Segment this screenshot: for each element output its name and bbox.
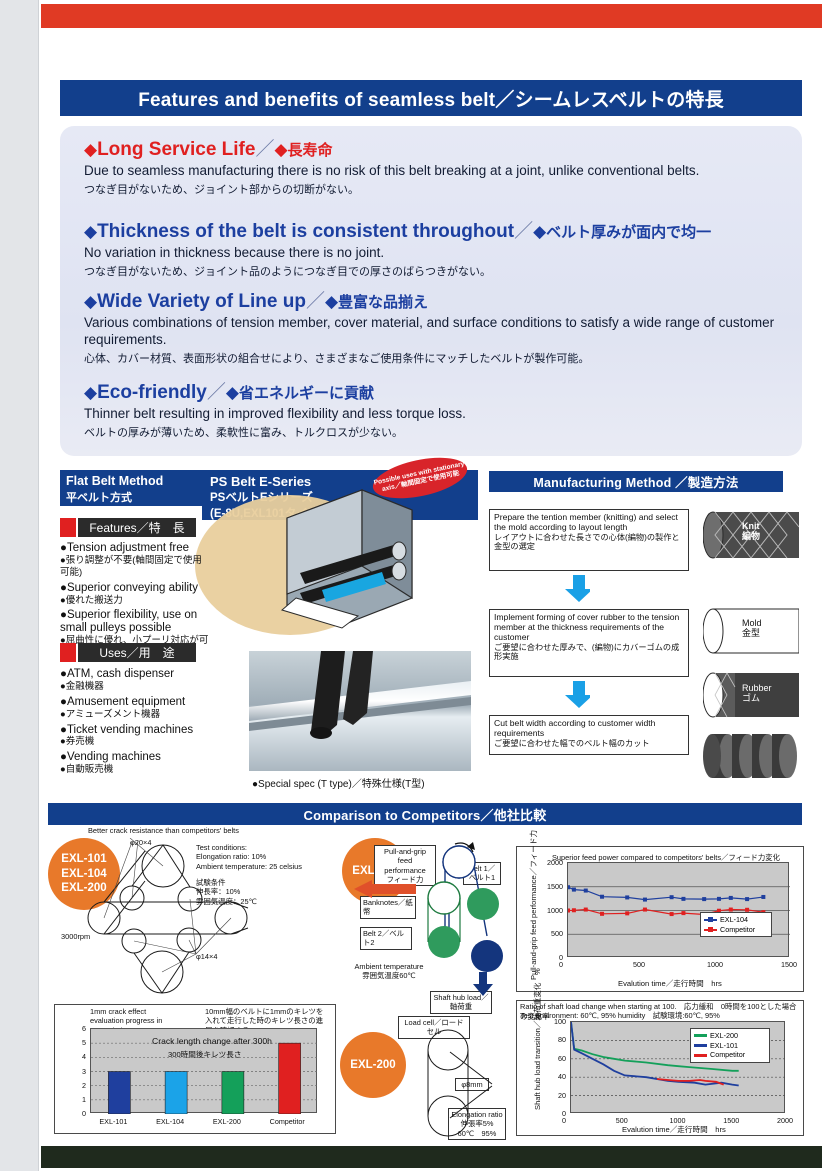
crack-chart-title: Crack length change after 300h (152, 1036, 272, 1047)
data-point (625, 911, 629, 915)
features-subheader: Features／特 長 (78, 518, 196, 537)
photo-caption: ●Special spec (T type)／特殊仕様(T型) (252, 775, 425, 790)
axis-tick-label: 0 (562, 1116, 566, 1125)
knit-label: Knit 編物 (742, 521, 760, 542)
axis-tick-label: Competitor (270, 1117, 305, 1126)
pulley-layout-diagram (70, 838, 290, 1000)
data-point (600, 912, 604, 916)
feed-chart-xlabel: Evalution time／走行時間 hrs (618, 978, 722, 989)
feature-item: ◆Long Service Life／◆長寿命 Due to seamless … (84, 140, 784, 197)
list-item-jp: ●優れた搬送力 (60, 595, 210, 607)
data-point (625, 895, 629, 899)
feed-mechanism-diagram (395, 840, 511, 1000)
mfg-step-box: Cut belt width according to customer wid… (489, 715, 689, 755)
legend-item: Competitor (704, 925, 768, 935)
data-point (681, 897, 685, 901)
data-point (717, 897, 721, 901)
axis-tick-label: EXL-101 (99, 1117, 127, 1126)
data-point (572, 908, 576, 912)
list-item: ●Superior conveying ability (60, 582, 210, 595)
list-item-jp: ●アミューズメント機器 (60, 709, 210, 721)
top-red-band (41, 4, 822, 28)
data-point (761, 895, 765, 899)
data-point (670, 895, 674, 899)
feature-heading: ◆Eco-friendly／◆省エネルギーに貢献 (84, 383, 784, 403)
shaft-chart-ylabel: Shaft hub load transition／軸荷重変化 % (532, 968, 543, 1110)
catalog-page: Features and benefits of seamless belt／シ… (0, 0, 822, 1171)
data-point (729, 908, 733, 912)
list-item: ●Amusement equipment (60, 696, 210, 709)
list-item: ●Superior flexibility, use on small pull… (60, 609, 210, 635)
feature-heading: ◆Thickness of the belt is consistent thr… (84, 222, 784, 242)
axis-tick-label: 2000 (777, 1116, 793, 1125)
axis-tick-label: 2000 (537, 858, 563, 867)
down-arrow-icon (564, 681, 590, 709)
axis-tick-label: 6 (82, 1024, 86, 1033)
special-spec-photo (249, 651, 471, 771)
feature-body-en: Thinner belt resulting in improved flexi… (84, 405, 784, 422)
red-square-marker (60, 643, 76, 662)
legend-item: Competitor (694, 1050, 766, 1060)
shaft-chart-legend: EXL-200 EXL-101 Competitor (690, 1028, 770, 1063)
feature-heading: ◆Wide Variety of Line up／◆豊富な品揃え (84, 292, 784, 312)
bar (279, 1043, 301, 1114)
list-item: ●Vending machines (60, 751, 210, 764)
list-item: ●Tension adjustment free (60, 542, 210, 555)
feature-body-jp: つなぎ目がないため、ジョイント品のようにつなぎ目での厚さのばらつきがない。 (84, 263, 784, 279)
axis-tick-label: 3 (82, 1067, 86, 1076)
legend-item: EXL-200 (694, 1031, 766, 1041)
legend-item: EXL-104 (704, 915, 768, 925)
data-point (745, 897, 749, 901)
uses-subheader: Uses／用 途 (78, 643, 196, 662)
shaft-chart-xlabel: Evalution time／走行時間 hrs (622, 1124, 726, 1135)
axis-tick-label: 500 (633, 960, 645, 969)
data-point (681, 911, 685, 915)
axis-tick-label: 60 (546, 1054, 566, 1063)
data-point (600, 895, 604, 899)
data-point (584, 908, 588, 912)
data-point (702, 897, 706, 901)
down-arrow-icon (564, 575, 590, 603)
axis-tick-label: 1500 (537, 882, 563, 891)
features-section-title: Features and benefits of seamless belt／シ… (60, 80, 802, 116)
feed-direction-arrow (354, 880, 416, 900)
list-item-jp: ●自動販売機 (60, 764, 210, 776)
flat-belt-title-jp: 平ベルト方式 (66, 489, 196, 505)
axis-tick-label: 100 (546, 1017, 566, 1026)
axis-tick-label: 500 (537, 929, 563, 938)
axis-tick-label: 80 (546, 1035, 566, 1044)
data-point (643, 908, 647, 912)
bar (165, 1072, 187, 1115)
crack-chart-subtitle: 300時間後キレツ長さ (168, 1050, 241, 1059)
axis-tick-label: EXL-104 (156, 1117, 184, 1126)
mold-label: Mold 金型 (742, 618, 762, 639)
data-point (568, 909, 570, 913)
axis-tick-label: 1000 (537, 906, 563, 915)
axis-tick-label: 1000 (707, 960, 723, 969)
badge-exl-200: EXL-200 (340, 1032, 406, 1098)
rubber-label: Rubber ゴム (742, 683, 772, 704)
comparison-section-title: Comparison to Competitors／他社比較 (48, 803, 802, 825)
legend-item: EXL-101 (694, 1041, 766, 1051)
list-item: ●Ticket vending machines (60, 724, 210, 737)
cut-belts-graphic (700, 728, 800, 784)
bottom-dark-band (41, 1146, 822, 1168)
data-point (670, 912, 674, 916)
feed-chart-plot (567, 862, 789, 957)
legend-swatch (704, 919, 717, 921)
feature-heading: ◆Long Service Life／◆長寿命 (84, 140, 784, 160)
data-point (572, 888, 576, 892)
feature-item: ◆Thickness of the belt is consistent thr… (84, 222, 784, 279)
data-point (584, 889, 588, 893)
feature-body-en: Various combinations of tension member, … (84, 314, 784, 349)
ps-belt-illustration (262, 478, 462, 643)
feature-body-jp: つなぎ目がないため、ジョイント部からの切断がない。 (84, 181, 784, 197)
data-point (729, 896, 733, 900)
list-item-jp: ●金融機器 (60, 681, 210, 693)
axis-tick-label: 1 (82, 1095, 86, 1104)
feed-chart-svg (568, 863, 790, 958)
manufacturing-section-title: Manufacturing Method ／製造方法 (489, 471, 783, 492)
axis-tick-label: 4 (82, 1052, 86, 1061)
mfg-step-box: Implement forming of cover rubber to the… (489, 609, 689, 677)
page-left-gutter (0, 0, 39, 1171)
axis-tick-label: 40 (546, 1072, 566, 1081)
axis-tick-label: 0 (82, 1109, 86, 1118)
load-cell-diagram (418, 1028, 514, 1138)
feature-item: ◆Eco-friendly／◆省エネルギーに貢献 Thinner belt re… (84, 383, 784, 440)
data-point (643, 898, 647, 902)
features-panel: ◆Long Service Life／◆長寿命 Due to seamless … (60, 126, 802, 456)
legend-swatch (694, 1044, 707, 1047)
axis-tick-label: 1500 (781, 960, 797, 969)
axis-tick-label: EXL-200 (213, 1117, 241, 1126)
feature-body-jp: 心体、カバー材質、表面形状の組合せにより、さまざまなご使用条件にマッチしたベルト… (84, 350, 784, 366)
flat-belt-title-en: Flat Belt Method (66, 474, 196, 488)
feed-chart-legend: EXL-104 Competitor (700, 912, 772, 937)
legend-swatch (694, 1054, 707, 1057)
list-item-jp: ●張り調整が不要(軸間固定で使用可能) (60, 555, 210, 579)
feature-item: ◆Wide Variety of Line up／◆豊富な品揃え Various… (84, 292, 784, 366)
feature-body-jp: ベルトの厚みが薄いため、柔軟性に富み、トルクロスが少ない。 (84, 424, 784, 440)
legend-swatch (704, 929, 717, 931)
axis-tick-label: 5 (82, 1038, 86, 1047)
list-item: ●ATM, cash dispenser (60, 668, 210, 681)
feature-body-en: Due to seamless manufacturing there is n… (84, 162, 784, 179)
flat-belt-uses-list: ●ATM, cash dispenser ●金融機器 ●Amusement eq… (60, 668, 210, 779)
series-line (568, 887, 763, 899)
axis-tick-label: 2 (82, 1081, 86, 1090)
list-item-jp: ●券売機 (60, 736, 210, 748)
flat-belt-method-header: Flat Belt Method 平ベルト方式 (60, 470, 202, 506)
axis-tick-label: 0 (559, 960, 563, 969)
crack-resistance-caption: Better crack resistance than competitors… (88, 826, 288, 835)
axis-tick-label: 20 (546, 1091, 566, 1100)
legend-swatch (694, 1034, 707, 1037)
mfg-step-box: Prepare the tention member (knitting) an… (489, 509, 689, 571)
red-square-marker (60, 518, 76, 537)
bar (108, 1072, 130, 1115)
data-point (568, 885, 570, 889)
feature-body-en: No variation in thickness because there … (84, 244, 784, 261)
bar (222, 1072, 244, 1115)
